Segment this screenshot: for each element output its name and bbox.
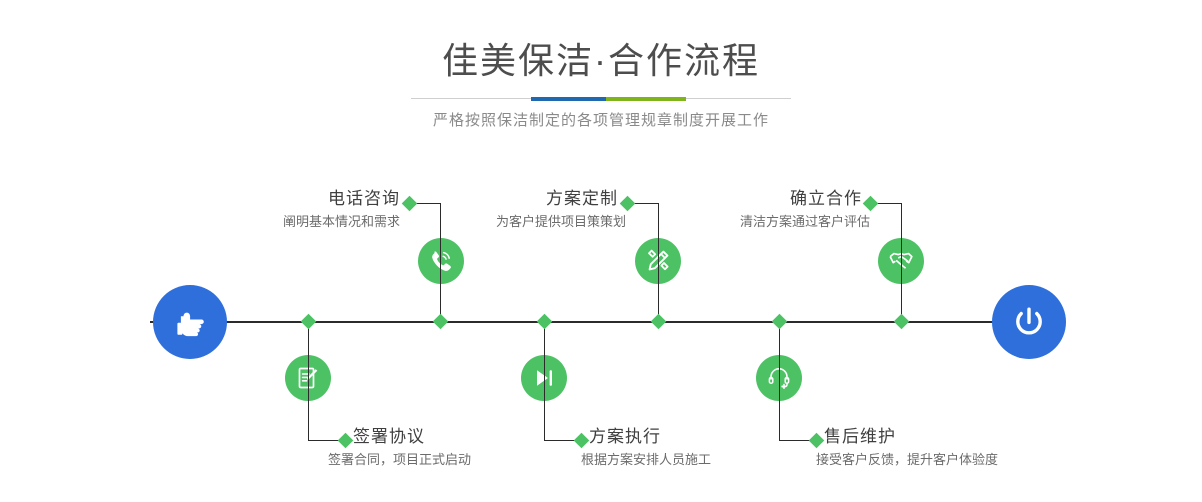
step-label-5-desc: 清洁方案通过客户评估: [582, 212, 870, 232]
step-label-5: 确立合作 清洁方案通过客户评估: [582, 188, 862, 232]
flow-diagram-page: 佳美保洁·合作流程 严格按照保洁制定的各项管理规章制度开展工作: [0, 0, 1202, 502]
step-marker-6-axis: [772, 314, 788, 330]
step-marker-1-axis: [433, 314, 449, 330]
step-label-5-title: 确立合作: [582, 188, 862, 210]
phone-call-icon: [427, 247, 455, 275]
timeline-axis: [150, 321, 1055, 323]
step-connector-2-vertical: [308, 321, 309, 441]
step-node-1[interactable]: [418, 238, 464, 284]
step-label-6-title: 售后维护: [824, 426, 1104, 448]
step-label-3: 方案定制 为客户提供项目策策划: [338, 188, 618, 232]
step-marker-5-label: [863, 196, 879, 212]
step-label-3-title: 方案定制: [338, 188, 618, 210]
process-timeline: 电话咨询 阐明基本情况和需求 签署协议 签署合同，项目正式启动: [0, 0, 1202, 502]
step-connector-6-vertical: [779, 321, 780, 441]
step-connector-4-vertical: [544, 321, 545, 441]
step-marker-3-axis: [651, 314, 667, 330]
timeline-end-endpoint: [992, 285, 1066, 359]
power-button-icon: [1008, 301, 1050, 343]
step-marker-5-axis: [894, 314, 910, 330]
step-marker-2-label: [338, 433, 354, 449]
step-label-6-desc: 接受客户反馈，提升客户体验度: [816, 450, 1104, 470]
timeline-start-endpoint: [153, 285, 227, 359]
step-marker-4-axis: [537, 314, 553, 330]
step-connector-5-vertical: [901, 203, 902, 321]
pointing-hand-icon: [170, 302, 210, 342]
step-marker-2-axis: [301, 314, 317, 330]
step-label-6: 售后维护 接受客户反馈，提升客户体验度: [824, 426, 1104, 470]
